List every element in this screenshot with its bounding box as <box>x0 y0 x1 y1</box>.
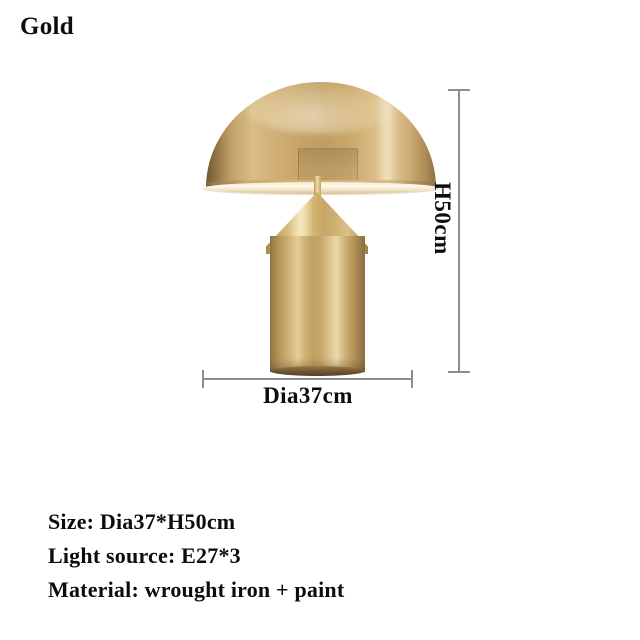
spec-size: Size: Dia37*H50cm <box>48 505 608 539</box>
height-dimension-tick-top <box>448 89 470 91</box>
shade-left-shadow <box>206 82 231 188</box>
lamp-product-image: H50cm Dia37cm <box>0 0 640 420</box>
lamp-base-foot <box>270 366 365 376</box>
lamp-base-cylinder <box>270 236 365 372</box>
height-dimension-label: H50cm <box>429 182 455 255</box>
lamp-shade <box>206 82 436 188</box>
spec-light-source: Light source: E27*3 <box>48 539 608 573</box>
height-dimension-line <box>458 90 460 373</box>
spec-material: Material: wrought iron + paint <box>48 573 608 607</box>
shade-sheen <box>243 82 395 134</box>
diameter-dimension-label: Dia37cm <box>203 383 413 409</box>
diameter-dimension-line <box>203 378 413 380</box>
specification-list: Size: Dia37*H50cm Light source: E27*3 Ma… <box>48 505 608 607</box>
height-dimension-tick-bottom <box>448 371 470 373</box>
